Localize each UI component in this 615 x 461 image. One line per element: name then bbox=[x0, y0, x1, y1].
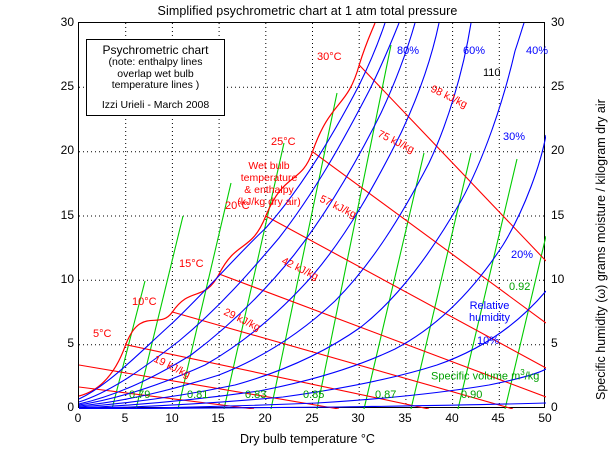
legend-box: Psychrometric chart (note: enthalpy line… bbox=[86, 39, 225, 116]
y-tick-label: 20 bbox=[40, 143, 74, 157]
psychrometric-chart-figure: Simplified psychrometric chart at 1 atm … bbox=[0, 0, 615, 461]
x-tick-label: 35 bbox=[385, 411, 425, 425]
specific-volume-label-090: 0.90 bbox=[461, 389, 482, 401]
wet-bulb-label-30: 30°C bbox=[317, 51, 342, 63]
wet-bulb-label-10: 10°C bbox=[132, 296, 157, 308]
x-tick-label: 10 bbox=[152, 411, 192, 425]
relative-humidity-title-line-1: Relative bbox=[469, 300, 510, 312]
x-tick-label: 20 bbox=[245, 411, 285, 425]
x-tick-label: 45 bbox=[478, 411, 518, 425]
wet-bulb-label-5: 5°C bbox=[93, 328, 111, 340]
y-tick-label: 30 bbox=[40, 15, 74, 29]
rh-label-80: 80% bbox=[397, 45, 419, 57]
rh-label-30: 30% bbox=[503, 131, 525, 143]
y-tick-label: 10 bbox=[40, 272, 74, 286]
specific-volume-title: Specific volume m3/kg bbox=[431, 368, 539, 383]
legend-author: Izzi Urieli - March 2008 bbox=[89, 99, 222, 111]
specific-volume-title-prefix: Specific volume m bbox=[431, 371, 520, 383]
specific-volume-label-085: 0.85 bbox=[303, 389, 324, 401]
y-axis-title: Specific humidity (ω) grams moisture / k… bbox=[594, 99, 608, 400]
y-tick-label: 5 bbox=[40, 336, 74, 350]
x-tick-label: 15 bbox=[198, 411, 238, 425]
plot-area: Psychrometric chart (note: enthalpy line… bbox=[78, 22, 545, 408]
relative-humidity-title: Relative humidity bbox=[469, 300, 510, 324]
rh-label-60: 60% bbox=[463, 45, 485, 57]
rh-label-10: 10% bbox=[477, 335, 499, 347]
specific-volume-label-092: 0.92 bbox=[509, 281, 530, 293]
specific-volume-label-079: 0.79 bbox=[129, 389, 150, 401]
legend-note-line-1: (note: enthalpy lines bbox=[89, 57, 222, 69]
specific-volume-title-suffix: /kg bbox=[525, 371, 540, 383]
label-110: 110 bbox=[483, 67, 501, 79]
wet-bulb-enthalpy-title: Wet bulb temperature & enthalpy (kJ/kg d… bbox=[219, 160, 319, 208]
wet-bulb-title-line-2: temperature bbox=[219, 172, 319, 184]
relative-humidity-title-line-2: humidity bbox=[469, 312, 510, 324]
specific-volume-label-083: 0.83 bbox=[245, 389, 266, 401]
x-axis-title: Dry bulb temperature °C bbox=[0, 432, 615, 446]
y-tick-label-right: 20 bbox=[551, 143, 585, 157]
y-tick-label-right: 5 bbox=[551, 336, 585, 350]
x-tick-label: 40 bbox=[432, 411, 472, 425]
x-tick-label: 50 bbox=[525, 411, 565, 425]
chart-title: Simplified psychrometric chart at 1 atm … bbox=[0, 4, 615, 18]
legend-title: Psychrometric chart bbox=[89, 43, 222, 57]
legend-note-line-3: temperature lines ) bbox=[89, 80, 222, 92]
rh-label-20: 20% bbox=[511, 249, 533, 261]
x-tick-label: 30 bbox=[338, 411, 378, 425]
wet-bulb-title-line-3: & enthalpy bbox=[219, 184, 319, 196]
wet-bulb-label-25: 25°C bbox=[271, 136, 296, 148]
wet-bulb-title-line-4: (kJ/kg dry air) bbox=[219, 196, 319, 208]
y-tick-label-right: 10 bbox=[551, 272, 585, 286]
specific-volume-label-087: 0.87 bbox=[375, 389, 396, 401]
wet-bulb-label-15: 15°C bbox=[179, 258, 204, 270]
wet-bulb-title-line-1: Wet bulb bbox=[219, 160, 319, 172]
x-tick-label: 25 bbox=[292, 411, 332, 425]
y-tick-label-right: 25 bbox=[551, 79, 585, 93]
x-tick-label: 0 bbox=[58, 411, 98, 425]
x-tick-label: 5 bbox=[105, 411, 145, 425]
y-tick-label: 25 bbox=[40, 79, 74, 93]
y-tick-label-right: 15 bbox=[551, 208, 585, 222]
rh-label-40: 40% bbox=[526, 45, 548, 57]
specific-volume-label-081: 0.81 bbox=[187, 389, 208, 401]
y-tick-label: 15 bbox=[40, 208, 74, 222]
y-tick-label-right: 30 bbox=[551, 15, 585, 29]
